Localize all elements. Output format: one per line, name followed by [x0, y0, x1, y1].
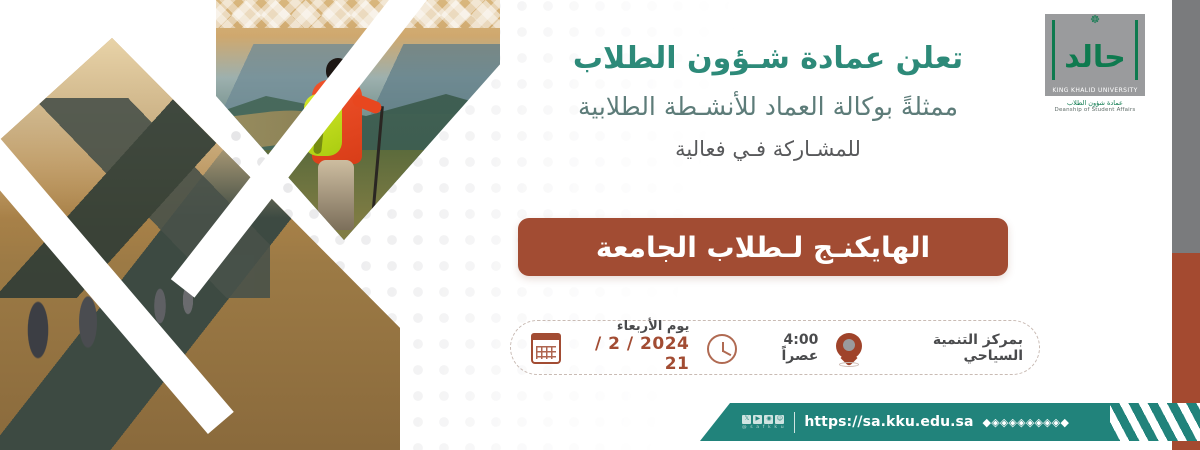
hiker-figure	[302, 58, 386, 238]
event-date-item: يوم الأربعاء 2024 / 2 / 21	[527, 320, 689, 374]
logo-arabic-subtitle: عمادة شؤون الطلاب	[1036, 99, 1154, 107]
youtube-icon[interactable]: ▶	[753, 415, 762, 424]
event-date-text: يوم الأربعاء 2024 / 2 / 21	[569, 320, 689, 374]
event-time-item: 4:00 عصراً	[703, 331, 818, 365]
event-details-strip: يوم الأربعاء 2024 / 2 / 21 4:00 عصراً بم…	[510, 320, 1040, 375]
event-place-item: بمركز التنمية السياحي	[832, 331, 1023, 365]
footer-divider	[794, 412, 796, 433]
footer-url[interactable]: https://sa.kku.edu.sa	[804, 414, 973, 430]
headline-line-1: تعلن عمادة شـؤون الطلاب	[488, 42, 1048, 77]
event-date-value: 2024 / 2 / 21	[569, 335, 689, 374]
social-handle: @ s a f k k u	[742, 425, 785, 430]
clock-icon	[703, 331, 737, 365]
headline-block: تعلن عمادة شـؤون الطلاب ممثلةً بوكالة ال…	[488, 42, 1048, 161]
logo-english-subtitle: Deanship of Student Affairs	[1036, 107, 1154, 113]
footer-bar: 𝕏 ▶ ◉ ☺ @ s a f k k u https://sa.kku.edu…	[700, 403, 1120, 441]
social-icons-group[interactable]: 𝕏 ▶ ◉ ☺ @ s a f k k u	[742, 415, 785, 430]
edge-accent-gray	[1172, 0, 1200, 253]
logo-mark: ☸ حالد KING KHALID UNIVERSITY	[1045, 14, 1145, 96]
trekking-pole	[371, 106, 384, 218]
location-pin-icon	[832, 331, 866, 365]
calendar-icon	[527, 331, 561, 365]
headline-line-3: للمشـاركة فـي فعالية	[488, 137, 1048, 161]
footer-diamond-pattern: ◆◈◈◈◈◈◈◈◈◆	[983, 416, 1070, 429]
hiker-legs	[318, 160, 354, 230]
event-title-pill: الهايكنـج لـطلاب الجامعة	[518, 218, 1008, 276]
instagram-icon[interactable]: ◉	[764, 415, 773, 424]
footer-diagonal-stripes	[1110, 403, 1200, 441]
event-place-value: بمركز التنمية السياحي	[874, 332, 1023, 364]
university-logo: ☸ حالد KING KHALID UNIVERSITY عمادة شؤون…	[1036, 14, 1154, 132]
photo-collage	[0, 0, 500, 450]
logo-english-name: KING KHALID UNIVERSITY	[1045, 87, 1145, 94]
x-icon[interactable]: 𝕏	[742, 415, 751, 424]
event-day-label: يوم الأربعاء	[569, 320, 689, 335]
headline-line-2: ممثلةً بوكالة العماد للأنشـطة الطلابية	[488, 93, 1048, 122]
crown-icon: ☸	[1045, 13, 1145, 26]
event-time-value: 4:00 عصراً	[745, 332, 818, 364]
logo-arabic-calligraphy: حالد	[1064, 43, 1125, 73]
event-announcement-banner: ☸ حالد KING KHALID UNIVERSITY عمادة شؤون…	[0, 0, 1200, 450]
snapchat-icon[interactable]: ☺	[775, 415, 784, 424]
event-title-text: الهايكنـج لـطلاب الجامعة	[596, 231, 930, 264]
